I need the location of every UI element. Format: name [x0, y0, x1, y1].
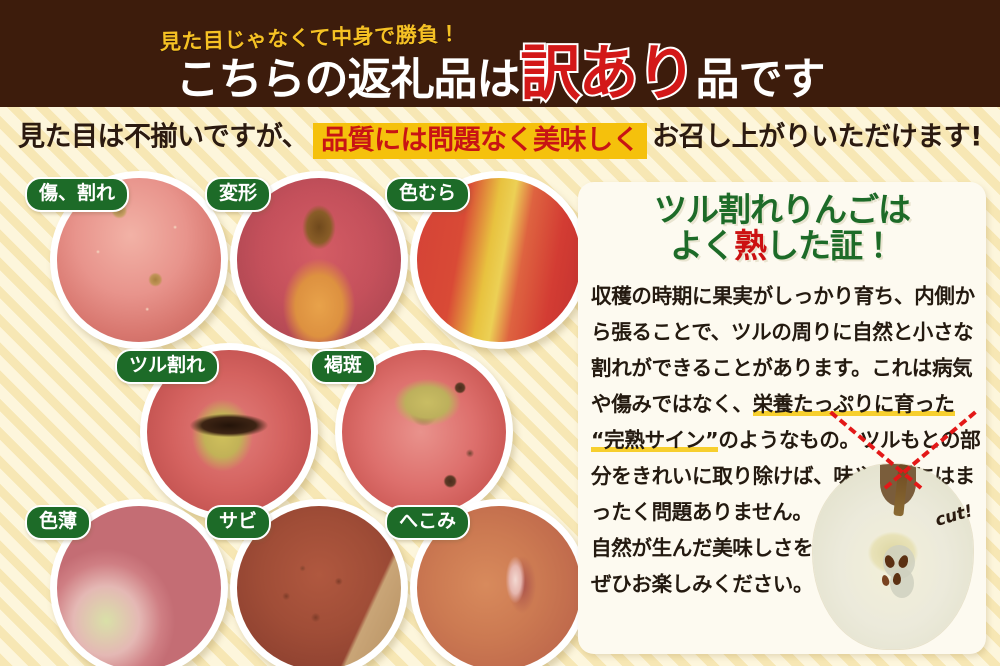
panel-heading-line2-c: した証！ — [766, 226, 894, 265]
photo-badge-russet: サビ — [205, 505, 271, 540]
body-line-4-highlight: 栄養たっぷりに育った — [753, 392, 955, 416]
header-title-accent: 訳あり — [521, 39, 695, 107]
photo-badge-pale-color: 色薄 — [25, 505, 91, 540]
panel-heading-line2-a: よく — [670, 226, 734, 265]
body-line-4-plain: や傷みではなく、 — [591, 392, 753, 416]
header-title-suffix: 品です — [696, 54, 825, 105]
subtitle-suffix: お召し上がりいただけます! — [652, 122, 982, 153]
photo-badge-brown-spot: 褐斑 — [310, 349, 376, 384]
body-line-5: “完熟サイン”のようなもの。ツルもとの部 — [591, 422, 973, 458]
photo-cell-russet[interactable]: サビ — [205, 499, 395, 666]
photo-cell-pale-color[interactable]: 色薄 — [25, 499, 215, 666]
defect-photo-grid: 傷、割れ 変形 色むら ツル割れ — [0, 165, 580, 666]
panel-heading-line1-text: ツル割れりんごは — [654, 190, 910, 229]
header-banner: 見た目じゃなくて中身で勝負！ こちらの返礼品は訳あり品です — [0, 0, 1000, 107]
photo-badge-stem-crack: ツル割れ — [115, 349, 219, 384]
photo-badge-uneven-color: 色むら — [385, 177, 470, 212]
cut-apple-figure: cut! — [813, 464, 978, 654]
apple-cross-section-photo — [813, 464, 973, 649]
header-title-prefix: こちらの返礼品は — [176, 54, 520, 105]
photo-badge-scar-crack: 傷、割れ — [25, 177, 129, 212]
body-line-5-highlight: “完熟サイン” — [591, 428, 718, 452]
panel-heading-line1: ツル割れりんごは — [578, 192, 986, 228]
subtitle-highlight: 品質には問題なく美味しく — [313, 123, 647, 159]
body-line-3: 割れができることがあります。これは病気 — [591, 350, 973, 386]
panel-heading: ツル割れりんごは よく熟した証！ — [578, 192, 986, 263]
body-line-1: 収穫の時期に果実がしっかり育ち、内側か — [591, 278, 973, 314]
photo-cell-deformed[interactable]: 変形 — [205, 171, 395, 361]
infographic-page: 見た目じゃなくて中身で勝負！ こちらの返礼品は訳あり品です 見た目は不揃いですが… — [0, 0, 1000, 666]
subtitle-row: 見た目は不揃いですが、品質には問題なく美味しくお召し上がりいただけます! — [0, 123, 1000, 159]
photo-badge-dent: へこみ — [385, 505, 470, 540]
body-line-2: ら張ることで、ツルの周りに自然と小さな — [591, 314, 973, 350]
photo-cell-uneven-color[interactable]: 色むら — [385, 171, 575, 361]
photo-cell-dent[interactable]: へこみ — [385, 499, 575, 666]
header-main-title: こちらの返礼品は訳あり品です — [0, 44, 1000, 104]
explanation-panel: ツル割れりんごは よく熟した証！ 収穫の時期に果実がしっかり育ち、内側か ら張る… — [578, 182, 986, 654]
panel-heading-line2-accent: 熟 — [734, 226, 766, 265]
subtitle-prefix: 見た目は不揃いですが、 — [18, 122, 308, 153]
photo-badge-deformed: 変形 — [205, 177, 271, 212]
body-line-4: や傷みではなく、栄養たっぷりに育った — [591, 386, 973, 422]
apple-seed — [881, 574, 890, 586]
photo-cell-scar-crack[interactable]: 傷、割れ — [25, 171, 215, 361]
panel-heading-line2: よく熟した証！ — [578, 228, 986, 264]
